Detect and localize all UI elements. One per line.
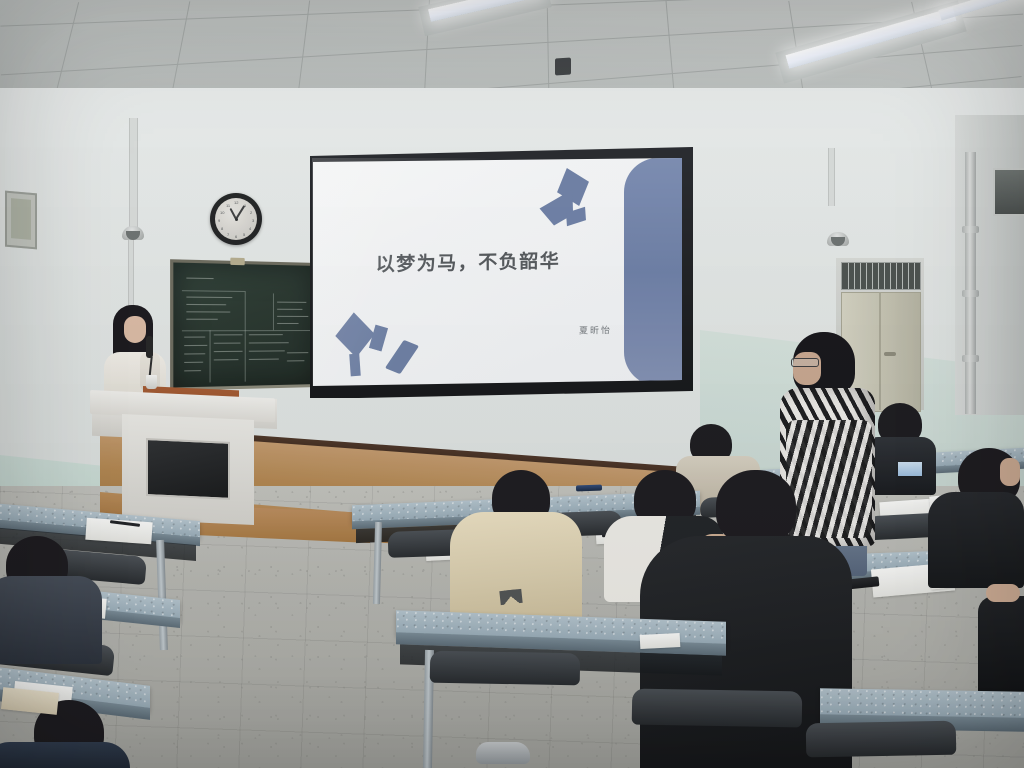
podium-monitor xyxy=(146,438,230,500)
slide-title: 以梦为马，不负韶华 xyxy=(312,245,624,278)
wall-pipe-right-joint-3 xyxy=(962,355,979,362)
clock-numeral: 11 xyxy=(226,203,230,208)
security-camera-icon-2 xyxy=(827,232,849,246)
presenter-face xyxy=(124,316,146,343)
slide-author-name: 夏昕怡 xyxy=(512,323,612,338)
wall-pipe-right xyxy=(965,152,976,414)
presentation-slide: 以梦为马，不负韶华 夏昕怡 xyxy=(312,158,682,386)
clock-numeral: 10 xyxy=(220,210,224,215)
standing-observer-jacket-detail xyxy=(786,420,872,538)
name-badge xyxy=(898,462,922,476)
door-center-split xyxy=(879,292,881,410)
clock-numeral: 8 xyxy=(221,226,223,231)
door-handle[interactable] xyxy=(884,352,896,356)
clock-face: 12 1 2 3 4 5 6 7 8 9 10 11 xyxy=(215,198,257,240)
student-hand xyxy=(986,584,1020,602)
student-shoe xyxy=(476,742,530,764)
ceiling-speaker-icon xyxy=(555,57,571,75)
slide-deco-diamond-4 xyxy=(385,340,419,374)
student-torso xyxy=(0,576,102,664)
clock-numeral: 7 xyxy=(227,232,229,237)
security-camera-icon xyxy=(122,226,144,240)
blackboard-clip xyxy=(230,258,244,266)
slide-accent-panel xyxy=(624,158,682,386)
wall-box-inner xyxy=(11,198,31,240)
clock-numeral: 12 xyxy=(234,200,238,205)
chair-back xyxy=(430,651,581,686)
clock-numeral: 9 xyxy=(218,218,220,223)
clock-numeral: 4 xyxy=(249,226,251,231)
phone-on-desk xyxy=(576,485,602,492)
door-transom-window xyxy=(841,262,921,290)
wall-vent xyxy=(993,168,1024,216)
microphone-icon xyxy=(146,336,153,358)
student-torso xyxy=(928,492,1024,588)
ceiling-conduit-right xyxy=(828,148,835,206)
clock-center-pin xyxy=(235,218,238,221)
wall-clock: 12 1 2 3 4 5 6 7 8 9 10 11 xyxy=(210,193,262,245)
slide-deco-triangle-2 xyxy=(369,325,388,352)
student-head xyxy=(716,470,796,544)
clock-numeral: 2 xyxy=(250,210,252,215)
clock-numeral: 5 xyxy=(243,232,245,237)
slide-deco-triangle-3 xyxy=(349,354,361,377)
clock-numeral: 3 xyxy=(252,218,254,223)
wall-mounted-box xyxy=(5,191,37,250)
chair-back xyxy=(632,689,803,728)
chair-back xyxy=(806,721,957,758)
classroom-photo: 12 1 2 3 4 5 6 7 8 9 10 11 xyxy=(0,0,1024,768)
student-torso xyxy=(0,742,130,768)
water-cup xyxy=(146,375,157,389)
clock-numeral: 6 xyxy=(235,234,237,239)
student-torso xyxy=(978,596,1024,692)
slide-deco-diamond-3 xyxy=(335,312,374,357)
student-jacket-logo xyxy=(499,589,522,605)
paper-sheet xyxy=(640,633,681,649)
standing-observer-face xyxy=(793,352,821,385)
blackboard xyxy=(170,259,319,391)
wall-conduit-left xyxy=(129,118,138,236)
student-torso xyxy=(450,512,582,624)
student-hand xyxy=(1000,458,1020,486)
glasses-icon xyxy=(791,358,819,367)
wall-pipe-right-joint-1 xyxy=(962,226,979,233)
wall-pipe-right-joint-2 xyxy=(962,290,979,297)
